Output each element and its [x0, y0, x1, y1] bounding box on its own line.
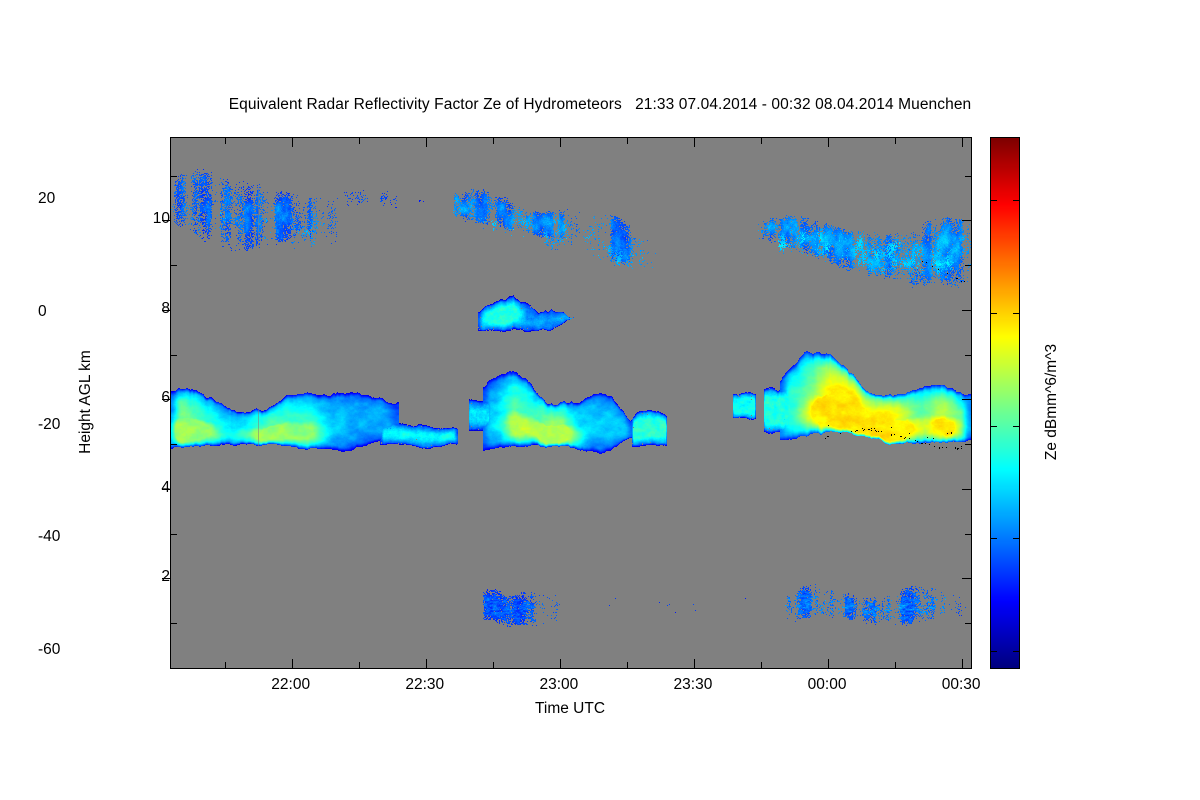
y-axis-tick: [171, 623, 177, 624]
x-axis-tick: [627, 662, 628, 668]
x-axis-tick: [828, 659, 829, 668]
x-axis-tick-top: [627, 138, 628, 144]
x-axis-tick: [895, 662, 896, 668]
y-axis-tick-right: [965, 265, 971, 266]
colorbar-tick-label: 20: [38, 190, 55, 208]
colorbar-tick-left: [991, 200, 997, 201]
x-axis-tick: [225, 662, 226, 668]
colorbar-tick: [1013, 426, 1019, 427]
x-axis-tick-top: [560, 138, 561, 147]
colorbar-tick-left: [991, 426, 997, 427]
colorbar-tick: [1013, 200, 1019, 201]
x-axis-tick: [694, 659, 695, 668]
x-axis-tick: [359, 662, 360, 668]
x-axis-tick: [493, 662, 494, 668]
page-title: Equivalent Radar Reflectivity Factor Ze …: [0, 96, 1200, 114]
colorbar-tick-left: [991, 538, 997, 539]
y-axis-tick-right: [962, 399, 971, 400]
y-axis-tick: [171, 444, 177, 445]
x-axis-tick-top: [359, 138, 360, 144]
y-axis-tick-right: [962, 310, 971, 311]
x-axis-tick: [292, 659, 293, 668]
y-axis-tick-right: [965, 534, 971, 535]
colorbar: [990, 137, 1020, 669]
colorbar-tick-left: [991, 651, 997, 652]
y-axis-tick-label: 6: [161, 389, 170, 407]
x-axis-tick-top: [694, 138, 695, 147]
x-axis-tick-label: 22:00: [271, 676, 310, 694]
y-axis-tick-right: [965, 444, 971, 445]
x-axis-tick-top: [828, 138, 829, 147]
colorbar-tick-label: -60: [38, 641, 60, 659]
colorbar-tick-label: -40: [38, 528, 60, 546]
x-axis-tick-label: 23:00: [539, 676, 578, 694]
colorbar-gradient: [991, 138, 1019, 668]
y-axis-tick-right: [965, 623, 971, 624]
x-axis-tick: [761, 662, 762, 668]
colorbar-tick: [1013, 538, 1019, 539]
colorbar-tick-left: [991, 313, 997, 314]
x-axis-tick-label: 23:30: [674, 676, 713, 694]
x-axis-tick-top: [761, 138, 762, 144]
x-axis-tick-top: [426, 138, 427, 147]
x-axis-tick-top: [493, 138, 494, 144]
y-axis-tick-right: [965, 176, 971, 177]
colorbar-title: Ze dBmm^6/m^3: [1043, 344, 1061, 460]
x-axis-tick-top: [895, 138, 896, 144]
colorbar-tick-label: 0: [38, 303, 47, 321]
radar-plot-axes: [170, 137, 972, 669]
y-axis-tick-right: [962, 489, 971, 490]
y-axis-tick-right: [962, 578, 971, 579]
y-axis-tick-right: [962, 220, 971, 221]
colorbar-tick-label: -20: [38, 416, 60, 434]
colorbar-tick: [1013, 313, 1019, 314]
colorbar-tick: [1013, 651, 1019, 652]
x-axis-tick: [560, 659, 561, 668]
x-axis-tick-label: 22:30: [405, 676, 444, 694]
radar-reflectivity-heatmap: [171, 138, 971, 668]
x-axis-tick: [962, 659, 963, 668]
x-axis-tick-top: [292, 138, 293, 147]
x-axis-tick-top: [962, 138, 963, 147]
y-axis-title: Height AGL km: [77, 350, 95, 454]
y-axis-tick: [171, 534, 177, 535]
x-axis-tick-label: 00:00: [808, 676, 847, 694]
x-axis-title: Time UTC: [170, 700, 970, 718]
y-axis-tick-right: [965, 355, 971, 356]
y-axis-tick: [171, 265, 177, 266]
y-axis-tick: [171, 176, 177, 177]
x-axis-tick: [426, 659, 427, 668]
x-axis-tick-top: [225, 138, 226, 144]
x-axis-tick-label: 00:30: [942, 676, 981, 694]
y-axis-tick-label: 10: [153, 210, 170, 228]
y-axis-tick-label: 2: [161, 568, 170, 586]
y-axis-tick: [171, 355, 177, 356]
y-axis-tick-label: 8: [161, 300, 170, 318]
y-axis-tick-label: 4: [161, 479, 170, 497]
